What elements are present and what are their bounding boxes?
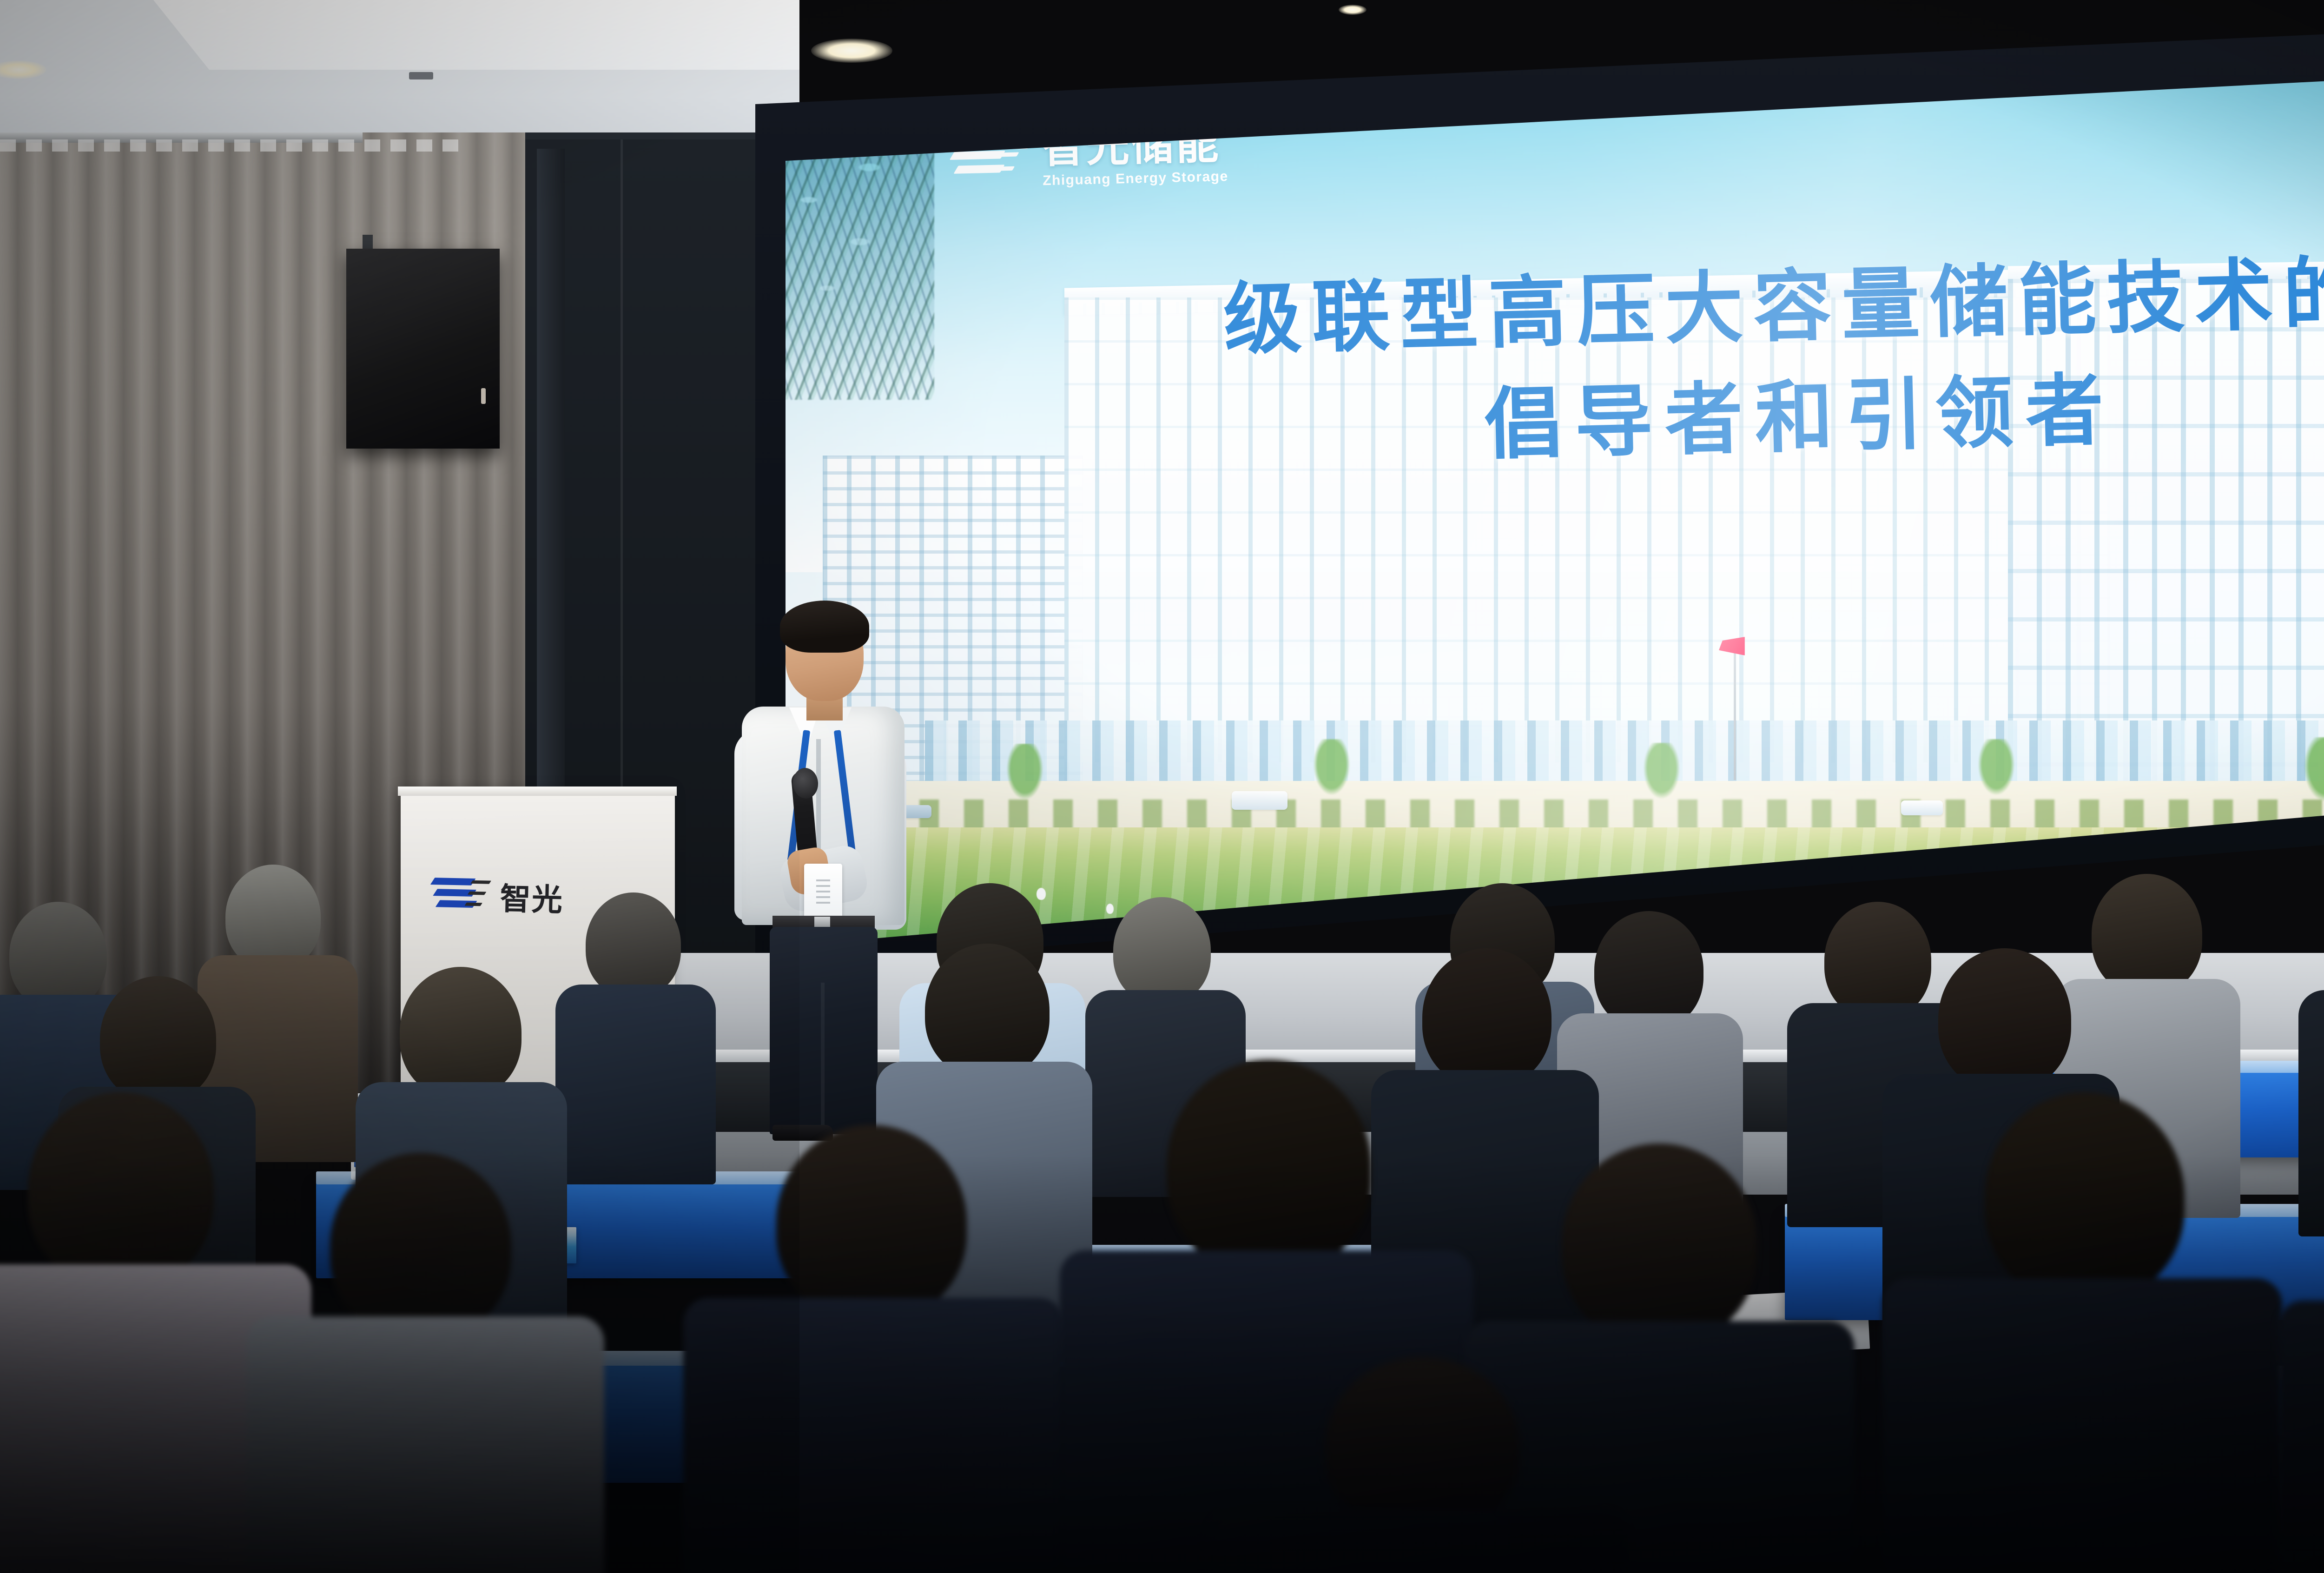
audience-person-foreground: [2296, 1106, 2324, 1573]
ceiling-panel: [153, 0, 799, 70]
zhiguang-stripes-mark-icon: [432, 876, 494, 915]
slide-vehicle: [1901, 800, 1943, 815]
slide-tree: [2301, 737, 2324, 807]
downlight-icon: [811, 39, 892, 63]
slide-tree: [1004, 744, 1046, 804]
podium-brand-logo: 智光: [432, 872, 564, 920]
presenter-hair: [780, 601, 869, 653]
audience-person: [558, 892, 711, 1181]
audience-person-foreground: [1218, 1357, 1627, 1573]
downlight-icon: [211, 7, 230, 14]
led-screen: 智光储能 Zhiguang Energy Storage 级联型高压大容量储能技…: [786, 56, 2324, 946]
presenter-badge: [804, 864, 842, 919]
slide-vehicle: [1232, 791, 1287, 810]
podium-top: [398, 786, 677, 796]
loudspeaker-icon: [346, 249, 500, 449]
downlight-icon: [1339, 5, 1367, 15]
audience-person-foreground: [260, 1153, 595, 1573]
presenter-trousers: [770, 927, 878, 1134]
audience-person-foreground: [697, 1125, 1060, 1573]
podium-logo-cn: 智光: [500, 874, 564, 920]
slide-tree: [1311, 739, 1353, 800]
curtain-hooks: [0, 139, 465, 152]
slide-tree: [1975, 739, 2017, 800]
slide-tree: [1641, 743, 1683, 803]
ceiling-vent-icon: [409, 72, 433, 79]
slide-flagpole: [1734, 641, 1736, 780]
audience-person-foreground: [1896, 1092, 2278, 1573]
conference-photo-scene: 智光储能 Zhiguang Energy Storage 级联型高压大容量储能技…: [0, 0, 2324, 1573]
slide-title: 级联型高压大容量储能技术的 倡导者和引领者: [1109, 235, 2324, 489]
slide-building-plinth: [925, 720, 2324, 790]
